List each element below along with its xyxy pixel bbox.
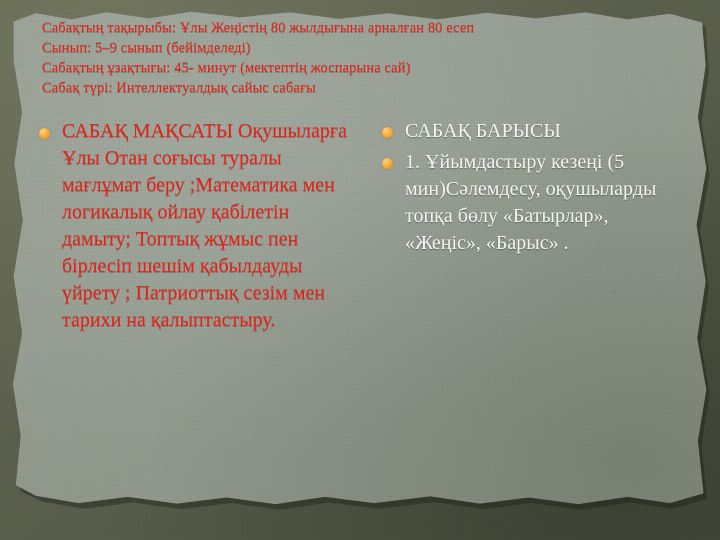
lesson-objectives-text: САБАҚ МАҚСАТЫ Оқушыларға Ұлы Отан соғысы… (62, 118, 359, 334)
bullet-dot-icon (39, 128, 50, 139)
lesson-topic-line: Сабақтың тақырыбы: Ұлы Жеңістің 80 жылды… (42, 18, 692, 38)
bullet-dot-icon (382, 127, 393, 138)
list-item: САБАҚ МАҚСАТЫ Оқушыларға Ұлы Отан соғысы… (34, 118, 359, 334)
lesson-flow-step-1: 1. Ұйымдастыру кезеңі (5 мин)Сәлемдесу, … (405, 149, 687, 257)
lesson-duration-line: Сабақтың ұзақтығы: 45- минут (мектептің … (42, 58, 692, 78)
left-column: САБАҚ МАҚСАТЫ Оқушыларға Ұлы Отан соғысы… (34, 118, 359, 336)
lesson-info-header: Сабақтың тақырыбы: Ұлы Жеңістің 80 жылды… (42, 18, 692, 98)
list-item: САБАҚ БАРЫСЫ (377, 118, 687, 145)
lesson-grade-line: Сынып: 5–9 сынып (бейімделеді) (42, 38, 692, 58)
presentation-slide: Сабақтың тақырыбы: Ұлы Жеңістің 80 жылды… (0, 0, 720, 540)
bullet-dot-icon (382, 158, 393, 169)
slide-content: Сабақтың тақырыбы: Ұлы Жеңістің 80 жылды… (0, 0, 720, 540)
lesson-flow-heading: САБАҚ БАРЫСЫ (405, 118, 687, 145)
right-column: САБАҚ БАРЫСЫ 1. Ұйымдастыру кезеңі (5 ми… (377, 118, 687, 259)
list-item: 1. Ұйымдастыру кезеңі (5 мин)Сәлемдесу, … (377, 149, 687, 257)
body-columns: САБАҚ МАҚСАТЫ Оқушыларға Ұлы Отан соғысы… (34, 118, 702, 510)
lesson-type-line: Сабақ түрі: Интеллектуалдық сайыс сабағы (42, 78, 692, 98)
